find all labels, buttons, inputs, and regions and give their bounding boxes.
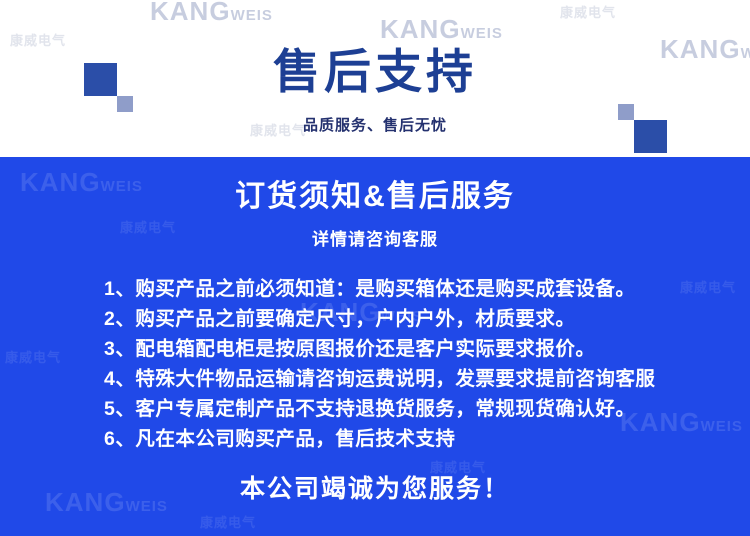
watermark-text: 康威电气	[560, 2, 616, 21]
order-notice-title: 订货须知&售后服务	[0, 182, 750, 212]
watermark-logo: KANGWEIS	[380, 14, 503, 45]
order-notice-subtitle: 详情请咨询客服	[0, 231, 750, 248]
watermark-logo-secondary: WEIS	[461, 25, 503, 42]
terms-list: 1、购买产品之前必须知道：是购买箱体还是购买成套设备。 2、购买产品之前要确定尺…	[0, 274, 750, 454]
watermark-logo-primary: KANG	[380, 14, 461, 44]
page-subtitle: 品质服务、售后无忧	[0, 118, 750, 133]
watermark-logo-primary: KANG	[150, 0, 231, 26]
list-item: 3、配电箱配电柜是按原图报价还是客户实际要求报价。	[0, 334, 750, 364]
watermark-text: 康威电气	[200, 512, 256, 531]
watermark-logo-secondary: WEIS	[231, 7, 273, 24]
order-notice-section: KANGWEIS KANGWEIS KANGWEIS 康威电气 康威电气 康威电…	[0, 157, 750, 536]
header-section: KANGWEIS KANGWEIS KANGWEIS 康威电气 康威电气 康威电…	[0, 0, 750, 157]
watermark-text: 康威电气	[430, 457, 486, 476]
watermark-text: 康威电气	[10, 30, 66, 49]
list-item: 6、凡在本公司购买产品，售后技术支持	[0, 424, 750, 454]
closing-statement: 本公司竭诚为您服务！	[0, 477, 750, 502]
list-item: 1、购买产品之前必须知道：是购买箱体还是购买成套设备。	[0, 274, 750, 304]
after-sales-support-banner: KANGWEIS KANGWEIS KANGWEIS 康威电气 康威电气 康威电…	[0, 0, 750, 536]
decorative-square-top-left-small	[117, 96, 133, 112]
page-title: 售后支持	[0, 48, 750, 95]
watermark-logo: KANGWEIS	[150, 0, 273, 27]
list-item: 2、购买产品之前要确定尺寸，户内户外，材质要求。	[0, 304, 750, 334]
list-item: 4、特殊大件物品运输请咨询运费说明，发票要求提前咨询客服	[0, 364, 750, 394]
list-item: 5、客户专属定制产品不支持退换货服务，常规现货确认好。	[0, 394, 750, 424]
